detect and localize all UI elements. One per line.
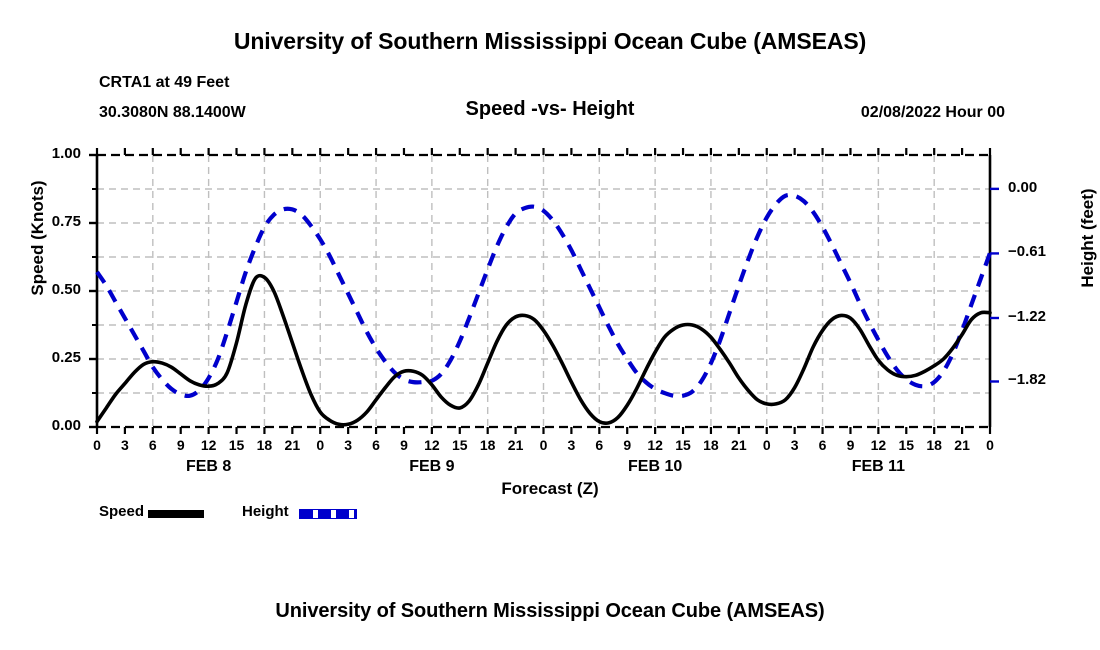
y-tick-right: −1.22 (1008, 308, 1078, 325)
x-tick: 9 (838, 437, 862, 453)
x-tick: 21 (950, 437, 974, 453)
x-tick: 3 (783, 437, 807, 453)
x-tick: 3 (336, 437, 360, 453)
x-tick: 12 (866, 437, 890, 453)
x-tick: 18 (252, 437, 276, 453)
x-tick: 18 (476, 437, 500, 453)
x-tick: 0 (85, 437, 109, 453)
x-tick: 9 (615, 437, 639, 453)
legend-swatch-speed (148, 510, 204, 518)
x-tick: 15 (448, 437, 472, 453)
x-tick: 21 (280, 437, 304, 453)
legend-label-speed: Speed (99, 503, 144, 520)
y-tick-left: 0.00 (21, 417, 81, 434)
y-axis-label-left: Speed (Knots) (28, 138, 48, 338)
y-axis-label-right: Height (feet) (1078, 138, 1098, 338)
y-tick-right: −0.61 (1008, 243, 1078, 260)
x-tick: 12 (420, 437, 444, 453)
x-tick: 18 (922, 437, 946, 453)
legend-label-height: Height (242, 503, 289, 520)
y-tick-left: 0.25 (21, 349, 81, 366)
y-tick-right: −1.82 (1008, 371, 1078, 388)
x-tick: 15 (225, 437, 249, 453)
x-tick: 21 (504, 437, 528, 453)
y-tick-right: 0.00 (1008, 179, 1078, 196)
x-tick: 3 (113, 437, 137, 453)
day-label: FEB 9 (372, 458, 492, 476)
x-tick: 9 (169, 437, 193, 453)
x-tick: 9 (392, 437, 416, 453)
x-tick: 18 (699, 437, 723, 453)
chart-canvas: University of Southern Mississippi Ocean… (0, 0, 1100, 650)
x-tick: 6 (587, 437, 611, 453)
x-tick: 3 (559, 437, 583, 453)
x-tick: 0 (755, 437, 779, 453)
x-tick: 0 (308, 437, 332, 453)
x-tick: 6 (364, 437, 388, 453)
day-label: FEB 11 (818, 458, 938, 476)
x-axis-label: Forecast (Z) (0, 479, 1100, 499)
x-tick: 0 (978, 437, 1002, 453)
x-tick: 12 (197, 437, 221, 453)
plot-svg (0, 0, 1100, 650)
y-tick-left: 1.00 (21, 145, 81, 162)
day-label: FEB 8 (149, 458, 269, 476)
x-tick: 6 (811, 437, 835, 453)
x-tick: 15 (894, 437, 918, 453)
x-tick: 12 (643, 437, 667, 453)
page-footer-title: University of Southern Mississippi Ocean… (0, 600, 1100, 623)
y-tick-left: 0.50 (21, 281, 81, 298)
x-tick: 21 (727, 437, 751, 453)
x-tick: 6 (141, 437, 165, 453)
x-tick: 15 (671, 437, 695, 453)
x-tick: 0 (532, 437, 556, 453)
legend-swatch-height (300, 510, 356, 518)
day-label: FEB 10 (595, 458, 715, 476)
y-tick-left: 0.75 (21, 213, 81, 230)
